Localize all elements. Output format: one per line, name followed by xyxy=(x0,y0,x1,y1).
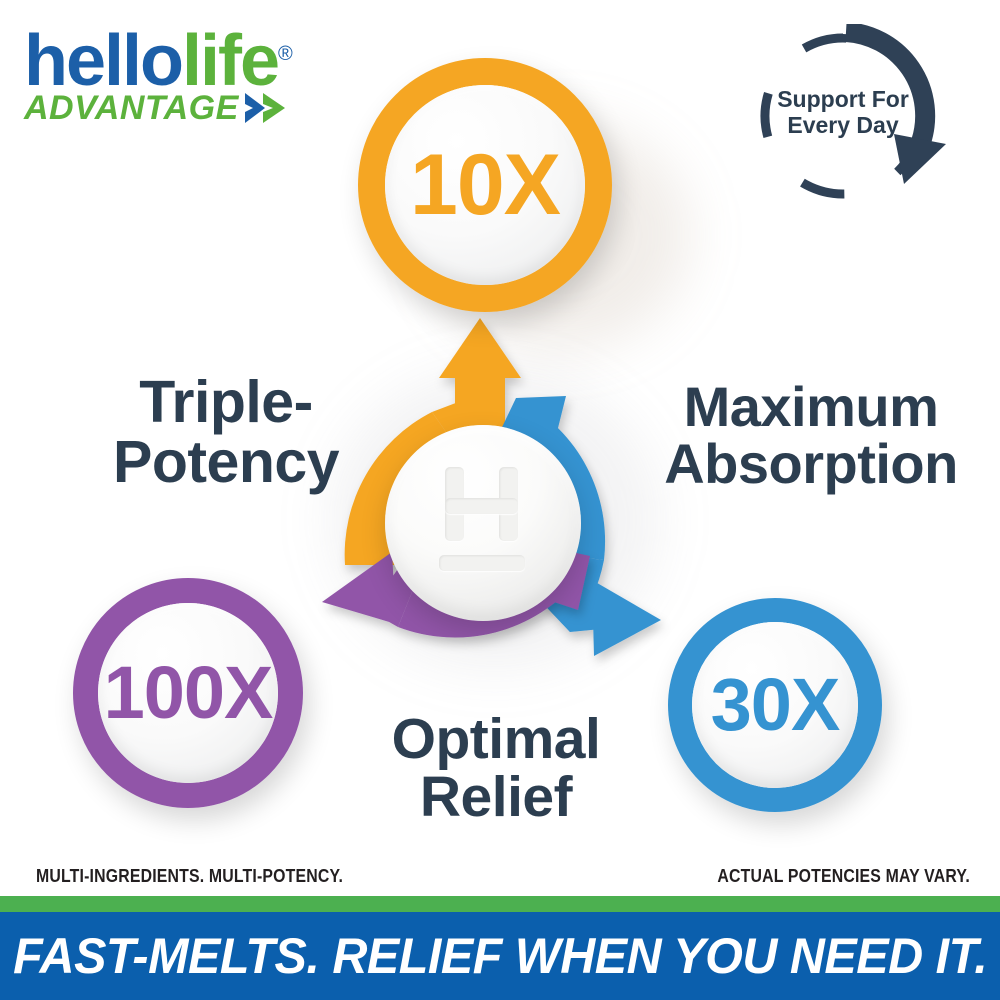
potency-value-10x: 10X xyxy=(410,142,560,228)
emboss-h-crossbar xyxy=(445,498,518,514)
potency-circle-10x: 10X xyxy=(358,58,612,312)
footnote-left: MULTI-INGREDIENTS. MULTI-POTENCY. xyxy=(36,866,343,887)
tablet-h-emboss xyxy=(437,467,529,579)
potency-circle-30x: 30X xyxy=(668,598,882,812)
feature-label-line2: Relief xyxy=(336,768,656,826)
support-badge-line2: Every Day xyxy=(768,112,918,138)
footnote-right: ACTUAL POTENCIES MAY VARY. xyxy=(718,866,970,887)
feature-label-line2: Potency xyxy=(76,432,376,492)
feature-label-triple-potency: Triple- Potency xyxy=(76,372,376,492)
bottom-banner-text: FAST-MELTS. RELIEF WHEN YOU NEED IT. xyxy=(13,927,987,985)
feature-label-line1: Maximum xyxy=(630,378,992,435)
potency-circle-face: 10X xyxy=(385,85,585,285)
potency-value-30x: 30X xyxy=(711,668,840,742)
potency-circle-face: 100X xyxy=(98,603,278,783)
center-tablet-icon xyxy=(385,425,581,621)
potency-circle-100x: 100X xyxy=(73,578,303,808)
brand-name-life: life xyxy=(182,21,278,101)
feature-label-line1: Triple- xyxy=(76,372,376,432)
brand-name-hello: hello xyxy=(24,21,182,101)
feature-label-maximum-absorption: Maximum Absorption xyxy=(630,378,992,492)
potency-circle-face: 30X xyxy=(692,622,858,788)
support-badge-text: Support For Every Day xyxy=(768,86,918,138)
potency-value-100x: 100X xyxy=(104,656,273,730)
support-badge: Support For Every Day xyxy=(746,24,956,214)
feature-label-line1: Optimal xyxy=(336,710,656,768)
feature-label-optimal-relief: Optimal Relief xyxy=(336,710,656,826)
green-divider-bar xyxy=(0,896,1000,912)
support-badge-line1: Support For xyxy=(768,86,918,112)
brand-wordmark: hellolife® xyxy=(24,28,404,94)
emboss-underline xyxy=(439,555,525,571)
infographic-canvas: hellolife® ADVANTAGE xyxy=(0,0,1000,1000)
bottom-banner: FAST-MELTS. RELIEF WHEN YOU NEED IT. xyxy=(0,912,1000,1000)
feature-label-line2: Absorption xyxy=(630,435,992,492)
registered-trademark-icon: ® xyxy=(278,43,293,65)
brand-logo: hellolife® ADVANTAGE xyxy=(24,28,404,148)
